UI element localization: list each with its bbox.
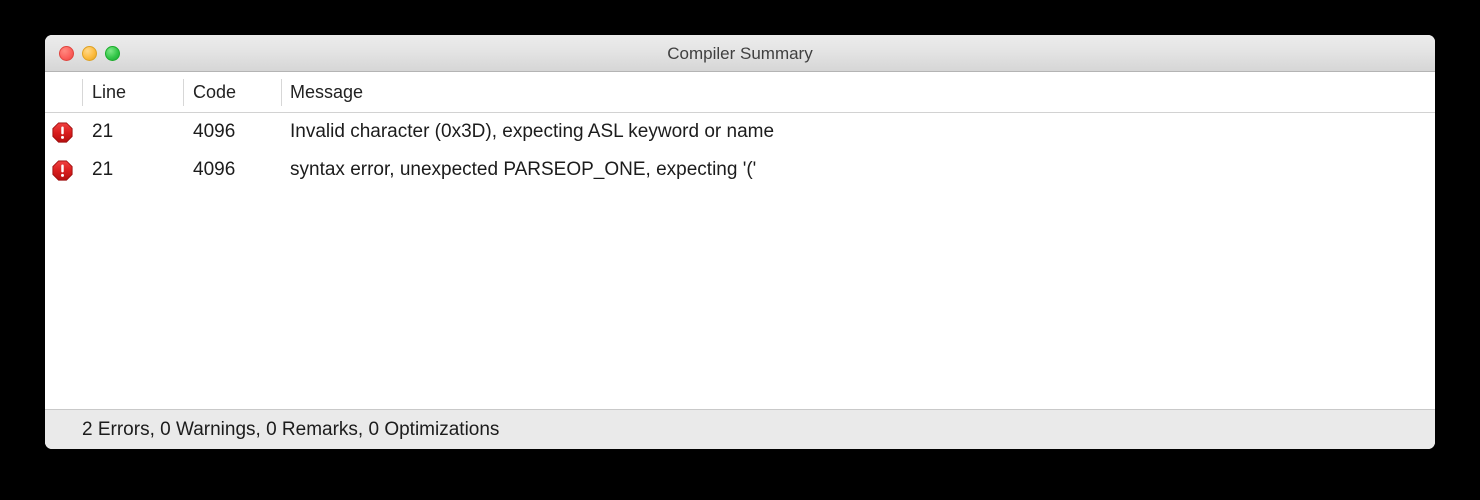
error-octagon-icon	[52, 160, 73, 181]
cell-message: Invalid character (0x3D), expecting ASL …	[290, 113, 774, 151]
cell-code: 4096	[193, 113, 235, 151]
status-bar: 2 Errors, 0 Warnings, 0 Remarks, 0 Optim…	[45, 409, 1435, 449]
cell-line: 21	[92, 151, 113, 189]
column-divider-code[interactable]	[183, 79, 184, 106]
table-row[interactable]: 21 4096 syntax error, unexpected PARSEOP…	[45, 151, 1435, 189]
diagnostics-list: 21 4096 Invalid character (0x3D), expect…	[45, 113, 1435, 408]
cell-message: syntax error, unexpected PARSEOP_ONE, ex…	[290, 151, 756, 189]
column-header-code[interactable]: Code	[193, 72, 236, 113]
status-summary-text: 2 Errors, 0 Warnings, 0 Remarks, 0 Optim…	[82, 410, 499, 449]
column-header-line[interactable]: Line	[92, 72, 126, 113]
window-title: Compiler Summary	[45, 35, 1435, 72]
compiler-summary-window: Compiler Summary Line Code Message	[45, 35, 1435, 449]
error-octagon-icon	[52, 122, 73, 143]
column-divider-line[interactable]	[82, 79, 83, 106]
window-titlebar[interactable]: Compiler Summary	[45, 35, 1435, 72]
cell-code: 4096	[193, 151, 235, 189]
column-divider-message[interactable]	[281, 79, 282, 106]
cell-line: 21	[92, 113, 113, 151]
column-header-message[interactable]: Message	[290, 72, 363, 113]
table-row[interactable]: 21 4096 Invalid character (0x3D), expect…	[45, 113, 1435, 151]
table-header-row: Line Code Message	[45, 72, 1435, 113]
